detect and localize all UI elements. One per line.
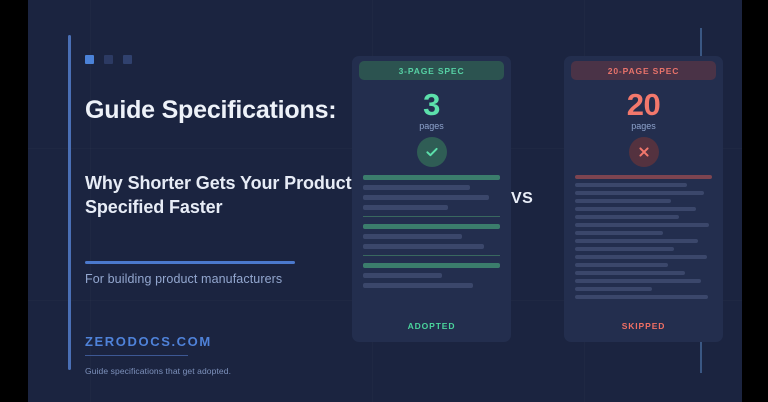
page-count-value: 3 <box>352 89 511 120</box>
doc-line <box>363 283 473 288</box>
brand-divider <box>85 355 188 356</box>
slide-canvas: Guide Specifications: Why Shorter Gets Y… <box>28 0 742 402</box>
doc-line <box>363 224 500 229</box>
doc-line <box>575 287 652 291</box>
decor-squares <box>85 55 132 64</box>
doc-line <box>575 207 696 211</box>
doc-line <box>575 183 687 187</box>
vs-label: VS <box>511 190 533 208</box>
cross-icon <box>629 137 659 167</box>
doc-skeleton-right <box>575 175 712 303</box>
page-count-value: 20 <box>564 89 723 120</box>
doc-line <box>363 175 500 180</box>
card-header-label: 3-PAGE SPEC <box>359 61 504 80</box>
page-subtitle: Why Shorter Gets Your Product Specified … <box>85 172 385 220</box>
brand-wordmark: ZERODOCS.COM <box>85 334 212 349</box>
doc-line <box>575 239 698 243</box>
doc-skeleton-left <box>363 175 500 293</box>
slide-stage: Guide Specifications: Why Shorter Gets Y… <box>0 0 768 402</box>
doc-line <box>575 247 674 251</box>
audience-label: For building product manufacturers <box>85 272 282 286</box>
page-count-unit: pages <box>564 121 723 131</box>
page-count-unit: pages <box>352 121 511 131</box>
left-accent-bar <box>68 35 71 370</box>
doc-line <box>575 231 663 235</box>
doc-line <box>363 185 470 190</box>
doc-line <box>575 199 671 203</box>
doc-line <box>363 195 489 200</box>
doc-line <box>363 234 462 239</box>
doc-line <box>363 263 500 268</box>
doc-line <box>575 263 668 267</box>
check-icon <box>417 137 447 167</box>
subtitle-divider <box>85 261 295 264</box>
doc-line <box>363 273 442 278</box>
doc-line <box>363 244 484 249</box>
doc-line <box>363 216 500 217</box>
doc-line <box>575 295 708 299</box>
square-icon-2 <box>104 55 113 64</box>
spec-card-twenty-page: 20-PAGE SPEC 20 pages SKIPPED <box>564 56 723 342</box>
doc-line <box>575 271 685 275</box>
doc-line <box>575 223 709 227</box>
doc-line <box>575 255 707 259</box>
square-icon-1 <box>85 55 94 64</box>
doc-line <box>575 279 701 283</box>
page-title: Guide Specifications: <box>85 95 385 126</box>
card-header-label: 20-PAGE SPEC <box>571 61 716 80</box>
doc-line <box>575 215 679 219</box>
card-status-badge: SKIPPED <box>564 321 723 331</box>
spec-card-three-page: 3-PAGE SPEC 3 pages ADOPTED <box>352 56 511 342</box>
doc-line <box>575 191 704 195</box>
card-status-badge: ADOPTED <box>352 321 511 331</box>
square-icon-3 <box>123 55 132 64</box>
doc-line <box>363 255 500 256</box>
doc-line <box>363 205 448 210</box>
doc-line <box>575 175 712 179</box>
brand-tagline: Guide specifications that get adopted. <box>85 366 231 376</box>
